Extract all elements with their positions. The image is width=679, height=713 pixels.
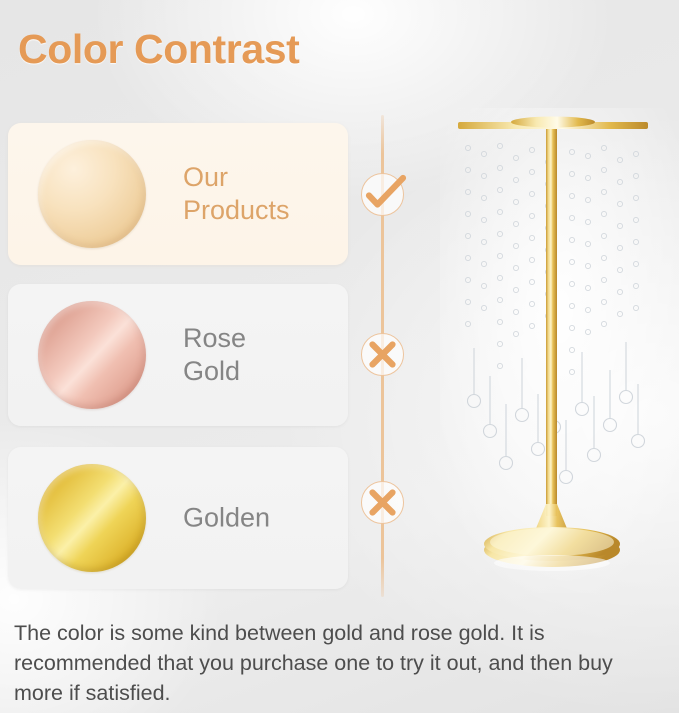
chandelier-centerpiece-illustration: [440, 108, 679, 593]
champagne-gold-swatch: [38, 140, 146, 248]
color-option-card-our-products[interactable]: Our Products: [8, 123, 348, 265]
check-marker: [358, 170, 407, 219]
cross-icon: [358, 478, 407, 527]
color-option-card-rose-gold[interactable]: Rose Gold: [8, 284, 348, 426]
cross-icon: [358, 330, 407, 379]
golden-swatch: [38, 464, 146, 572]
color-option-label: Golden: [183, 502, 270, 535]
product-photo: [440, 108, 679, 593]
infographic-page: Color Contrast Our Products Rose Gold Go…: [0, 0, 679, 713]
color-option-label: Our Products: [183, 161, 290, 227]
cross-marker: [358, 330, 407, 379]
cross-marker: [358, 478, 407, 527]
check-icon: [358, 170, 407, 219]
color-option-label: Rose Gold: [183, 322, 246, 388]
footer-description: The color is some kind between gold and …: [14, 618, 666, 708]
page-title: Color Contrast: [18, 26, 299, 73]
rose-gold-swatch: [38, 301, 146, 409]
color-option-card-golden[interactable]: Golden: [8, 447, 348, 589]
